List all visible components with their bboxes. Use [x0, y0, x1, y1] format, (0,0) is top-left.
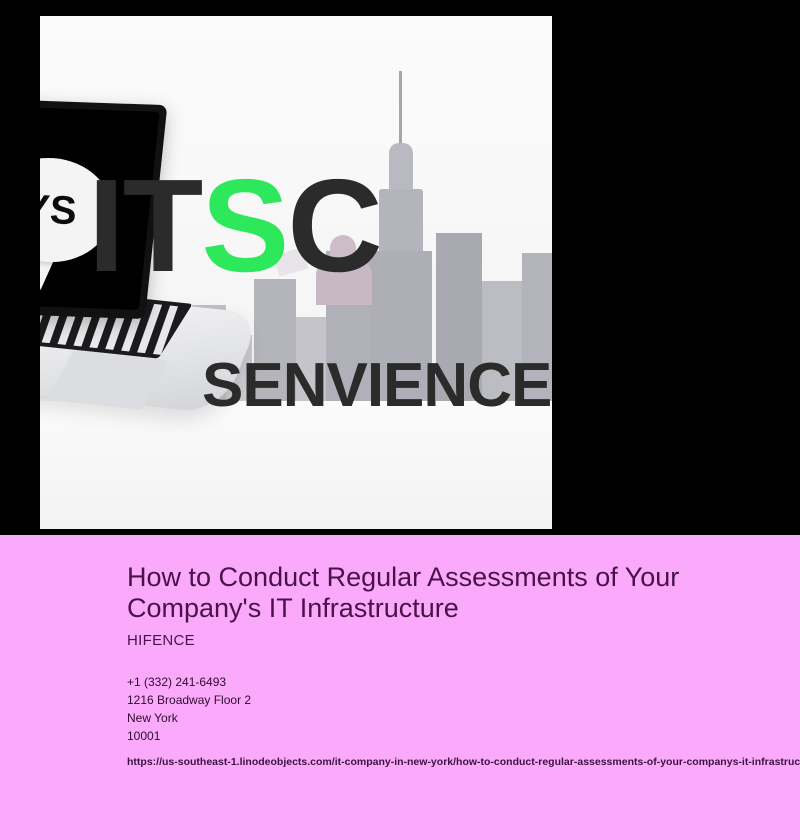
hero-canvas: YS ITSC SENVIENCE — [40, 16, 552, 529]
hero-headline: ITSC — [88, 164, 381, 288]
page-title: How to Conduct Regular Assessments of Yo… — [127, 562, 727, 623]
hero-headline-part-3: C — [287, 152, 380, 299]
hero-headline-part-2: S — [201, 152, 287, 299]
hero-image: YS ITSC SENVIENCE — [40, 16, 552, 529]
article-info-panel: How to Conduct Regular Assessments of Yo… — [0, 535, 800, 840]
contact-block: +1 (332) 241-6493 1216 Broadway Floor 2 … — [127, 673, 800, 745]
hero-headline-part-1: IT — [88, 152, 201, 299]
source-url[interactable]: https://us-southeast-1.linodeobjects.com… — [127, 754, 800, 771]
hero-subheadline: SENVIENCE — [202, 350, 551, 421]
page-root: YS ITSC SENVIENCE How to Conduct Regular… — [0, 0, 800, 840]
contact-street: 1216 Broadway Floor 2 — [127, 691, 800, 709]
contact-phone[interactable]: +1 (332) 241-6493 — [127, 673, 800, 691]
brand-name: HIFENCE — [127, 632, 800, 649]
article-info-content: How to Conduct Regular Assessments of Yo… — [127, 562, 800, 771]
contact-city: New York — [127, 709, 800, 727]
contact-postal-code: 10001 — [127, 727, 800, 745]
